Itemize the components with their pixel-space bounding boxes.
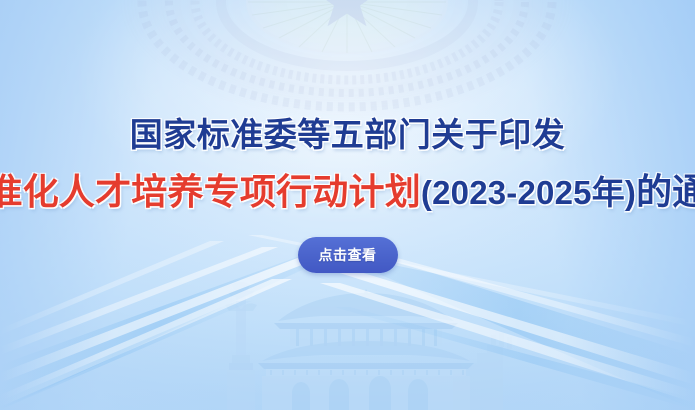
banner-title-plan-name: 标准化人才培养专项行动计划 xyxy=(0,171,421,212)
banner-content: 国家标准委等五部门关于印发 标准化人才培养专项行动计划(2023-2025年)的… xyxy=(0,0,695,410)
banner-title-suffix: 的通知 xyxy=(636,171,695,212)
view-details-button[interactable]: 点击查看 xyxy=(298,237,398,273)
banner-title-years: (2023-2025年) xyxy=(421,174,636,211)
policy-banner: 国家标准委等五部门关于印发 标准化人才培养专项行动计划(2023-2025年)的… xyxy=(0,0,695,410)
banner-title-line-1: 国家标准委等五部门关于印发 xyxy=(130,118,566,151)
banner-title-line-2: 标准化人才培养专项行动计划(2023-2025年)的通知 xyxy=(0,174,695,210)
